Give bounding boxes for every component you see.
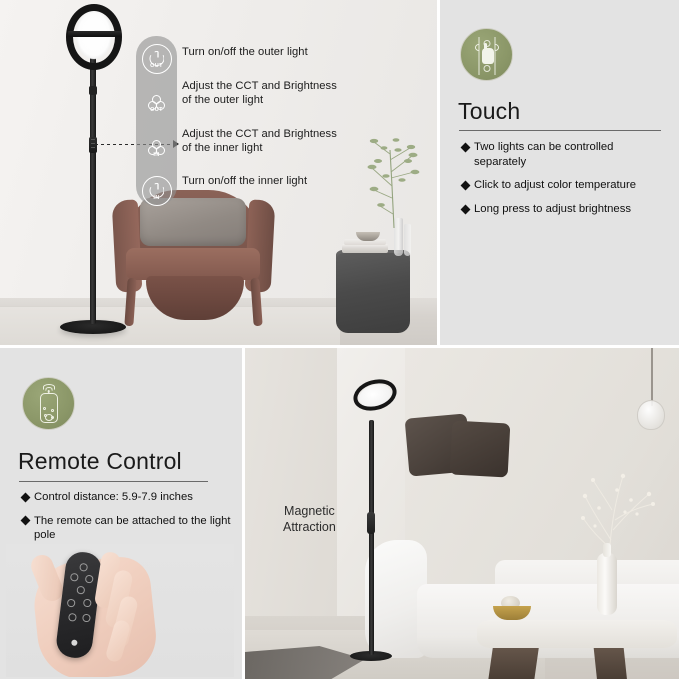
- touch-feature-panel: Touch Two lights can be controlled separ…: [440, 0, 679, 345]
- pole-dot-bottom: [483, 65, 490, 72]
- branch-plant: [350, 128, 437, 228]
- dried-branches: [565, 466, 661, 558]
- remote-key[interactable]: [85, 575, 93, 583]
- touch-bullet-2: Click to adjust color temperature: [474, 178, 636, 193]
- lamp-pole: [369, 420, 374, 655]
- pendant-cord: [651, 348, 653, 406]
- bubbles-in-icon: IN: [142, 133, 172, 163]
- lamp-inner-bar: [68, 31, 121, 37]
- touch-title: Touch: [458, 98, 520, 125]
- remote-key[interactable]: [82, 614, 90, 622]
- icon-label-in: IN: [153, 153, 159, 159]
- lamp-ring: [350, 375, 401, 416]
- remote-title-underline: [19, 481, 208, 482]
- remote-button: [43, 407, 46, 410]
- magnetic-attraction-annotation: Magnetic Attraction: [283, 504, 336, 535]
- bullet-item: Click to adjust color temperature: [462, 178, 667, 193]
- remote-button: [51, 409, 54, 412]
- icon-label-out-2: OUT: [150, 108, 163, 114]
- diamond-bullet-icon: [21, 516, 31, 526]
- touch-bullet-1: Two lights can be controlled separately: [474, 140, 667, 169]
- table-top: [477, 620, 677, 648]
- remote-bullet-1: Control distance: 5.9-7.9 inches: [34, 490, 193, 505]
- remote-key[interactable]: [76, 586, 84, 594]
- remote-indicator-dot: [71, 639, 78, 646]
- bullet-item: Two lights can be controlled separately: [462, 140, 667, 169]
- touch-bullet-list: Two lights can be controlled separately …: [462, 140, 667, 226]
- remote-bullet-2: The remote can be attached to the light …: [34, 514, 234, 543]
- infographic-page: OUT OUT IN: [0, 0, 679, 679]
- callout-text-1-line1: Turn on/off the outer light: [182, 46, 308, 60]
- chair-skirt: [146, 276, 244, 320]
- lamp-ring-shade: [66, 4, 122, 70]
- icon-label-in-2: IN: [153, 196, 159, 202]
- remote-button: [51, 416, 54, 419]
- bullet-item: The remote can be attached to the light …: [22, 514, 234, 543]
- room-scene-background: OUT OUT IN: [0, 0, 437, 345]
- magnetic-label-line1: Magnetic: [283, 504, 336, 520]
- power-in-icon: IN: [142, 176, 172, 206]
- sofa-pillow: [450, 421, 511, 478]
- callout-text-3: Adjust the CCT and Brightness of the inn…: [182, 128, 337, 155]
- remote-key[interactable]: [67, 599, 75, 607]
- remote-control-feature-panel: Remote Control Control distance: 5.9-7.9…: [0, 348, 242, 679]
- touch-title-underline: [459, 130, 661, 131]
- remote-title: Remote Control: [18, 448, 182, 475]
- control-callout-panel: OUT OUT IN: [136, 36, 177, 206]
- remote-key[interactable]: [83, 599, 91, 607]
- touch-control-strip[interactable]: [89, 137, 97, 153]
- callout-text-2-line2: of the outer light: [182, 94, 337, 108]
- touch-bullet-3: Long press to adjust brightness: [474, 202, 631, 217]
- diamond-bullet-icon: [461, 180, 471, 190]
- diamond-bullet-icon: [461, 204, 471, 214]
- power-out-icon: OUT: [142, 44, 172, 74]
- remote-control-signal-icon: [22, 377, 75, 430]
- glass-vase-second: [404, 224, 411, 256]
- chair-leg-left: [124, 278, 136, 327]
- side-table: [336, 253, 410, 333]
- callout-text-2-line1: Adjust the CCT and Brightness: [182, 80, 337, 94]
- callout-text-1: Turn on/off the outer light: [182, 46, 308, 60]
- remote-key[interactable]: [68, 613, 76, 621]
- hand-glyph: [482, 48, 494, 64]
- magnetic-remote-attached[interactable]: [367, 512, 375, 534]
- callout-text-2: Adjust the CCT and Brightness of the out…: [182, 80, 337, 107]
- remote-key[interactable]: [70, 573, 78, 581]
- icon-label-out: OUT: [150, 64, 163, 70]
- pendant-lamp: [637, 400, 665, 430]
- remote-bullet-list: Control distance: 5.9-7.9 inches The rem…: [22, 490, 234, 552]
- floor-vase: [597, 553, 617, 615]
- callout-text-4: Turn on/off the inner light: [182, 175, 307, 189]
- bubbles-out-icon: OUT: [142, 88, 172, 118]
- living-room-lamp-photo: Magnetic Attraction: [245, 348, 679, 679]
- remote-key[interactable]: [79, 563, 87, 571]
- remote-body-outline: [40, 393, 58, 423]
- coffee-table: [477, 620, 677, 679]
- callout-text-4-line1: Turn on/off the inner light: [182, 175, 307, 189]
- armchair: [110, 190, 275, 330]
- diamond-bullet-icon: [21, 492, 31, 502]
- lamp-head: [353, 376, 397, 414]
- diamond-bullet-icon: [461, 142, 471, 152]
- top-left-photo-panel: OUT OUT IN: [0, 0, 437, 345]
- bullet-item: Long press to adjust brightness: [462, 202, 667, 217]
- books-stack: [342, 244, 388, 253]
- bullet-item: Control distance: 5.9-7.9 inches: [22, 490, 234, 505]
- hand-holding-remote-photo: [6, 544, 234, 677]
- pole-joint: [89, 86, 97, 95]
- living-room-scene: Magnetic Attraction: [245, 348, 679, 679]
- callout-text-3-line1: Adjust the CCT and Brightness: [182, 128, 337, 142]
- callout-text-3-line2: of the inner light: [182, 142, 337, 156]
- touch-hand-on-pole-icon: [460, 28, 513, 81]
- magnetic-label-line2: Attraction: [283, 520, 336, 536]
